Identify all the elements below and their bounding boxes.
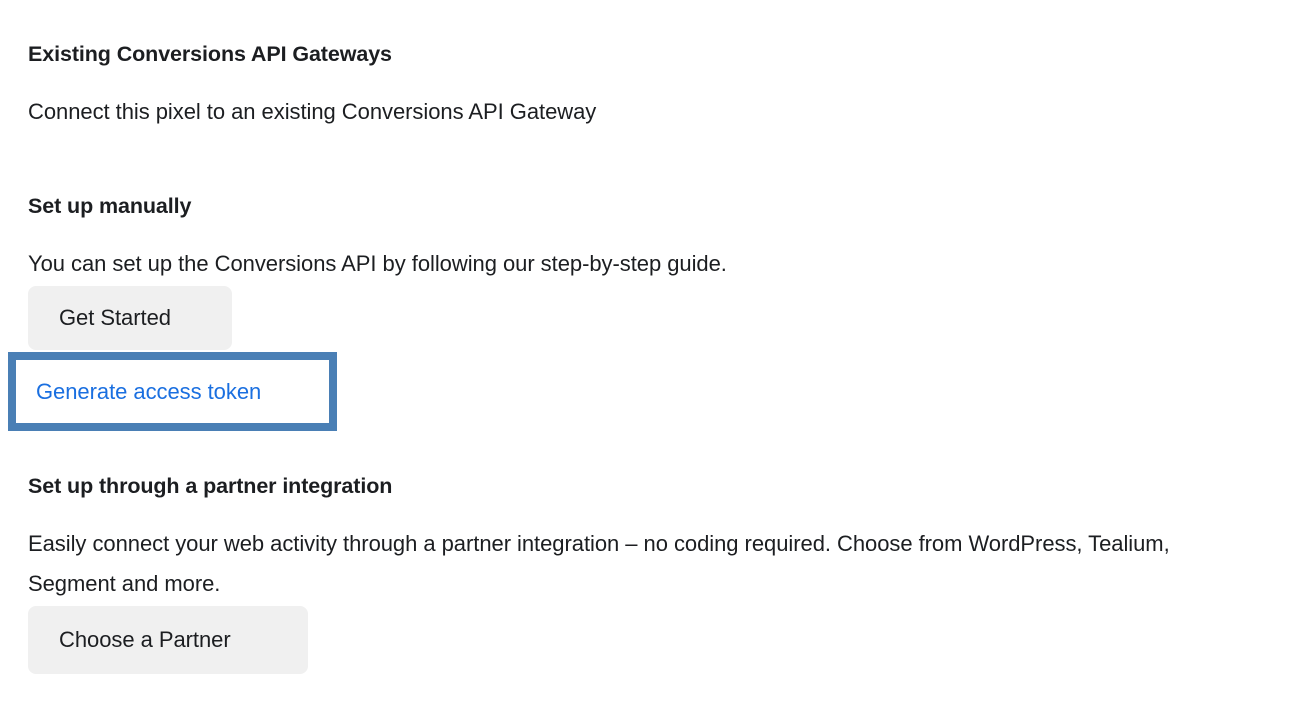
conversions-api-setup-panel: Existing Conversions API Gateways Connec…	[0, 0, 1304, 704]
description-existing-conversions-api-gateways: Connect this pixel to an existing Conver…	[28, 92, 596, 132]
description-set-up-manually: You can set up the Conversions API by fo…	[28, 244, 727, 284]
get-started-button[interactable]: Get Started	[28, 286, 232, 350]
heading-existing-conversions-api-gateways: Existing Conversions API Gateways	[28, 41, 392, 67]
generate-access-token-link[interactable]: Generate access token	[36, 376, 261, 408]
heading-set-up-through-partner-integration: Set up through a partner integration	[28, 473, 392, 499]
choose-a-partner-button[interactable]: Choose a Partner	[28, 606, 308, 674]
heading-set-up-manually: Set up manually	[28, 193, 191, 219]
generate-access-token-highlight: Generate access token	[8, 352, 337, 431]
description-set-up-through-partner-integration: Easily connect your web activity through…	[28, 524, 1243, 604]
